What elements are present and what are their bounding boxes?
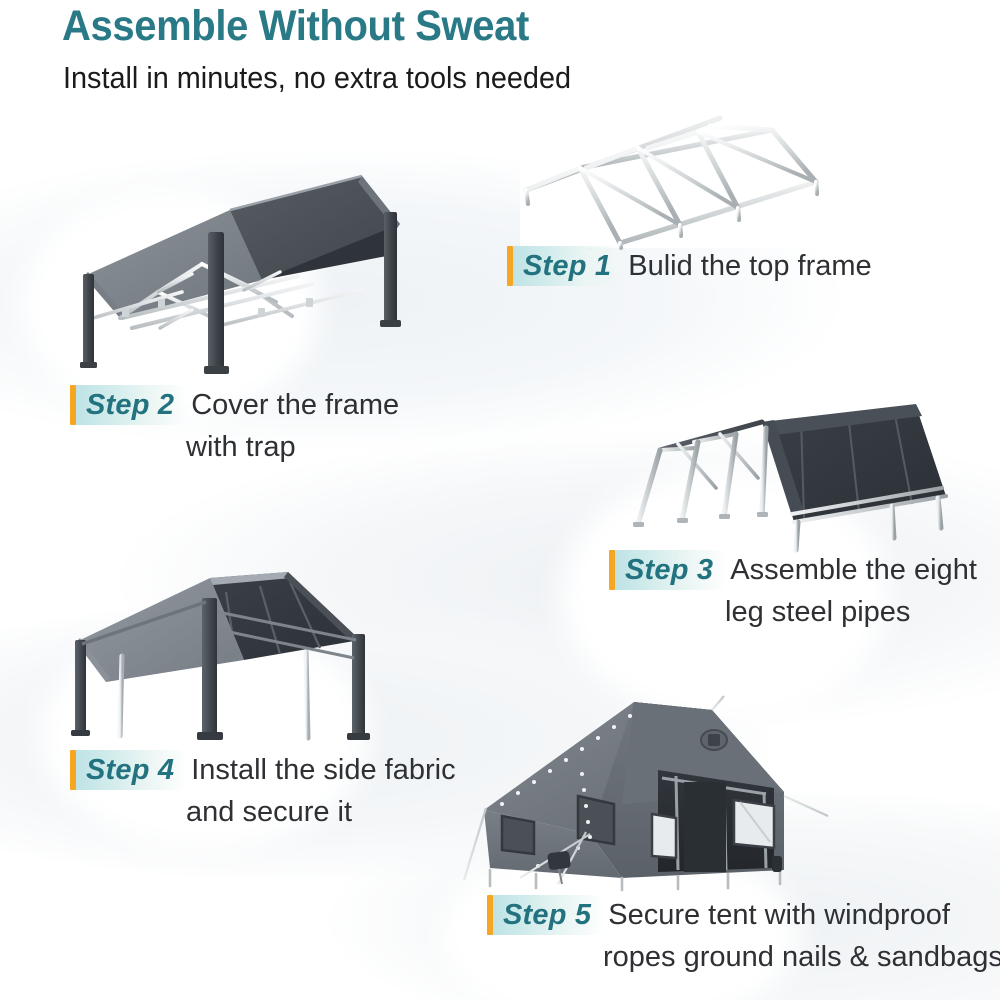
- step-2-text-line1: Cover the frame: [191, 385, 399, 425]
- step-2-tag: Step 2: [70, 385, 188, 425]
- step-4-tag-text: Step 4: [76, 750, 188, 790]
- step-4-text-line2: and secure it: [186, 792, 456, 832]
- step-5-label: Step 5 Secure tent with windproof ropes …: [487, 895, 1000, 977]
- step-1-text-line1: Bulid the top frame: [628, 246, 871, 286]
- step-5-text-line2: ropes ground nails & sandbags: [603, 937, 1000, 977]
- step-4-label: Step 4 Install the side fabric and secur…: [70, 750, 456, 832]
- step-4-tag: Step 4: [70, 750, 188, 790]
- step-2-text-line2: with trap: [186, 427, 399, 467]
- step-2-label: Step 2 Cover the frame with trap: [70, 385, 399, 467]
- step-1-tag: Step 1: [507, 246, 625, 286]
- illustration-top-frame-detail: [520, 108, 860, 248]
- step-5-text-line1: Secure tent with windproof: [608, 895, 950, 935]
- step-5-tag-text: Step 5: [493, 895, 605, 935]
- illustration-frame-with-tarp: [62, 168, 452, 383]
- step-3-tag-text: Step 3: [615, 550, 727, 590]
- page-title: Assemble Without Sweat: [62, 2, 529, 51]
- illustration-canopy-eight-legs: [616, 404, 996, 556]
- step-2-tag-text: Step 2: [76, 385, 188, 425]
- step-4-text-line1: Install the side fabric: [191, 750, 455, 790]
- step-5-tag: Step 5: [487, 895, 605, 935]
- step-3-label: Step 3 Assemble the eight leg steel pipe…: [609, 550, 977, 632]
- step-3-text-line1: Assemble the eight: [730, 550, 977, 590]
- step-3-text-line2: leg steel pipes: [725, 592, 977, 632]
- page-subtitle: Install in minutes, no extra tools neede…: [63, 60, 571, 96]
- step-3-tag: Step 3: [609, 550, 727, 590]
- step-1-label: Step 1 Bulid the top frame: [507, 246, 872, 286]
- infographic-canvas: Assemble Without Sweat Install in minute…: [0, 0, 1000, 1000]
- illustration-complete-tent: [462, 692, 882, 892]
- step-1-tag-text: Step 1: [513, 246, 625, 286]
- illustration-standing-carport: [58, 568, 438, 748]
